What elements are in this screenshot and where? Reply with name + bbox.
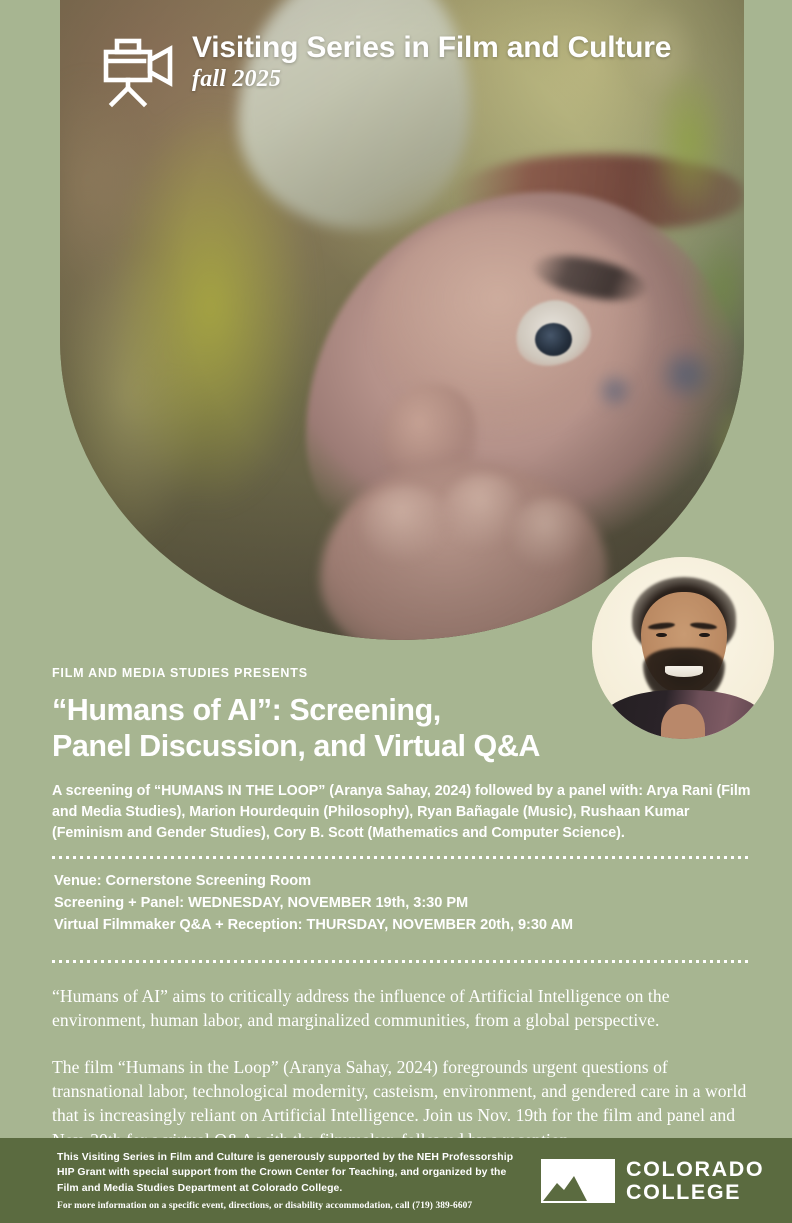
filmmaker-avatar [592,557,774,739]
divider-bottom [52,960,752,963]
cc-word-line-1: COLORADO [626,1158,764,1181]
poster-footer: This Visiting Series in Film and Culture… [0,1138,792,1223]
cc-word-line-2: COLLEGE [626,1181,764,1204]
cc-wordmark: COLORADO COLLEGE [626,1158,764,1204]
body-copy: “Humans of AI” aims to critically addres… [52,984,752,1153]
detail-screening: Screening + Panel: WEDNESDAY, NOVEMBER 1… [54,892,752,914]
series-term: fall 2025 [192,66,671,93]
avatar-eye-left [656,633,667,638]
detail-venue: Venue: Cornerstone Screening Room [54,870,752,892]
body-paragraph-1: “Humans of AI” aims to critically addres… [52,984,752,1033]
cc-mountain-mark-icon [541,1159,615,1203]
footer-support-text: This Visiting Series in Film and Culture… [57,1150,527,1196]
event-poster: Visiting Series in Film and Culture fall… [0,0,792,1223]
poster-header: Visiting Series in Film and Culture fall… [60,30,744,122]
movie-camera-icon [100,36,176,108]
event-details: Venue: Cornerstone Screening Room Screen… [52,859,752,947]
footer-contact-text: For more information on a specific event… [57,1201,527,1211]
series-title: Visiting Series in Film and Culture [192,32,671,64]
footer-text-group: This Visiting Series in Film and Culture… [57,1150,527,1211]
detail-qa: Virtual Filmmaker Q&A + Reception: THURS… [54,914,752,936]
avatar-smile [665,666,703,677]
panel-synopsis: A screening of “HUMANS IN THE LOOP” (Ara… [52,781,752,843]
header-text-group: Visiting Series in Film and Culture fall… [192,32,671,93]
colorado-college-logo: COLORADO COLLEGE [541,1158,764,1204]
